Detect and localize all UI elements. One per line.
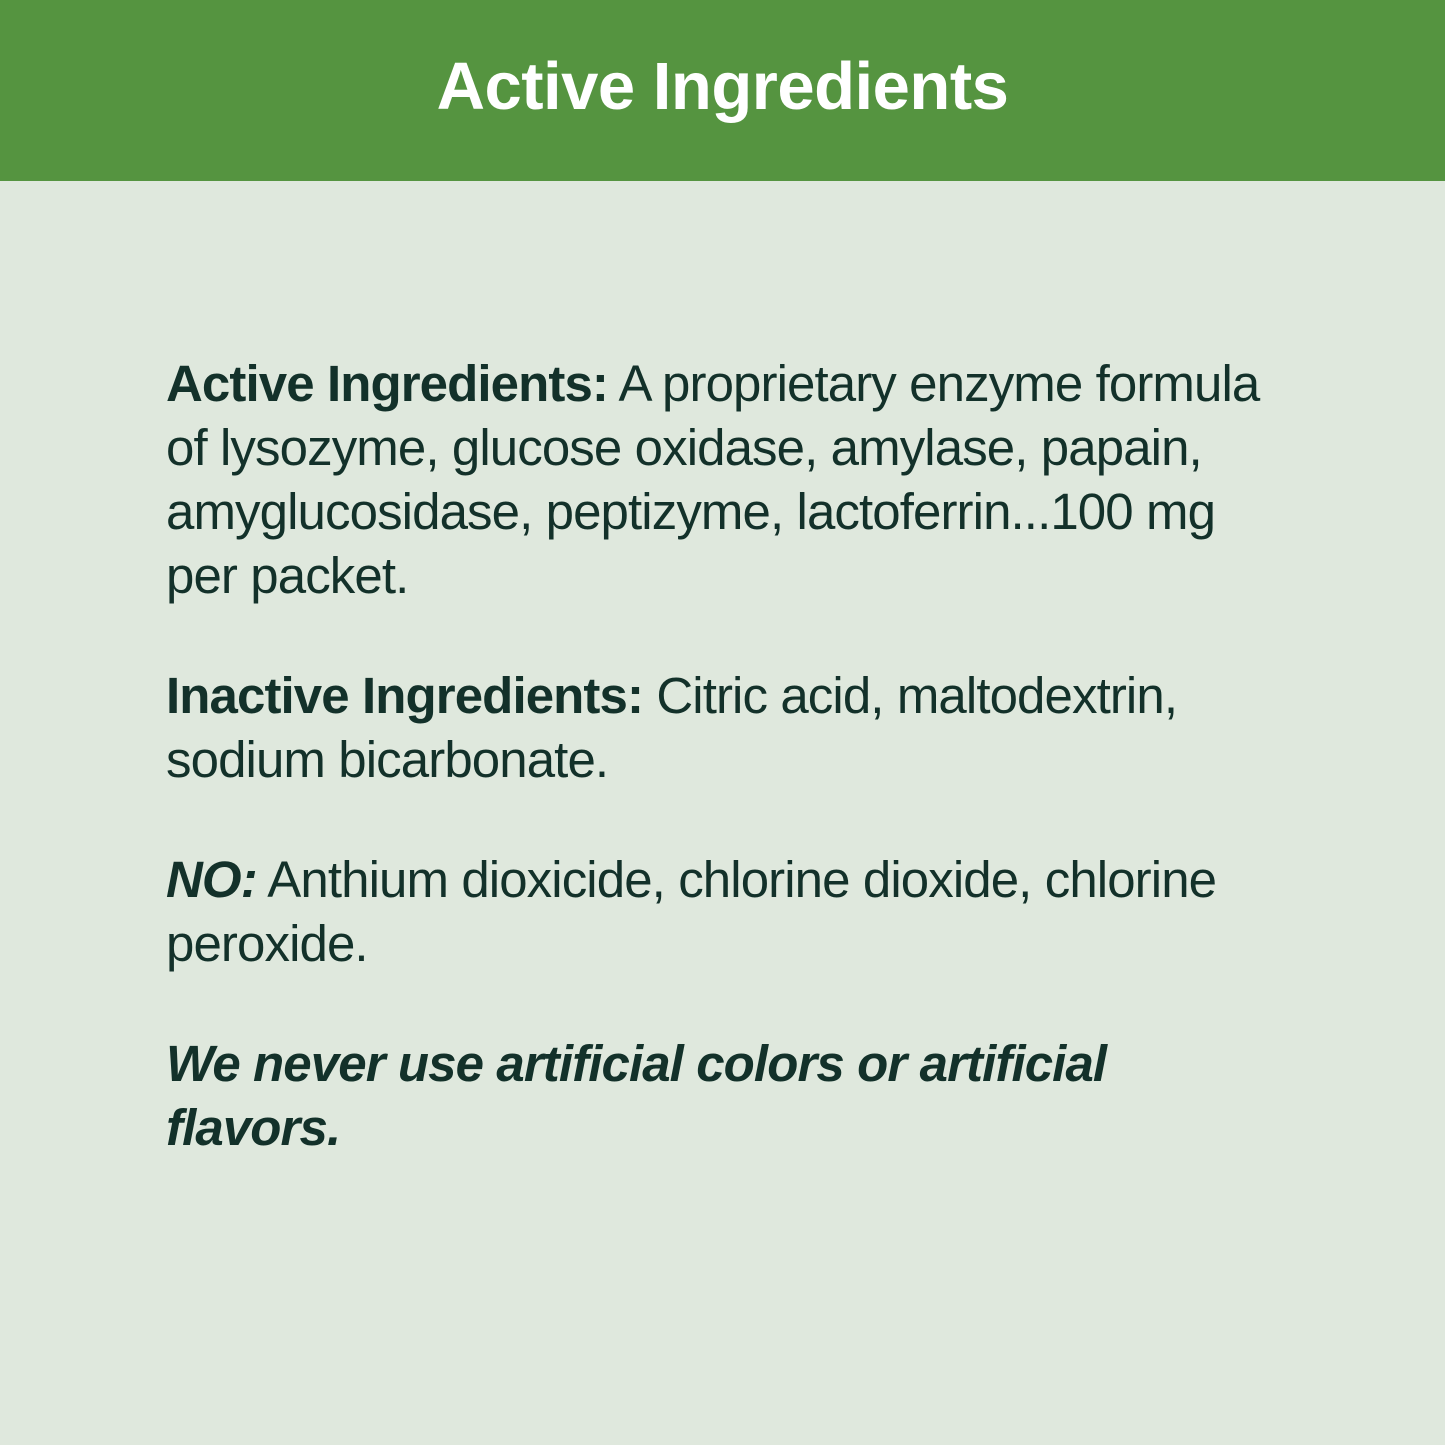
page-title: Active Ingredients — [437, 53, 1009, 120]
no-artificial-statement-text: We never use artificial colors or artifi… — [166, 1035, 1106, 1156]
active-ingredients-label: Active Ingredients: — [166, 355, 608, 412]
no-list-text: Anthium dioxicide, chlorine dioxide, chl… — [166, 851, 1216, 972]
header-band: Active Ingredients — [0, 0, 1445, 181]
paragraph-active-ingredients: Active Ingredients: A proprietary enzyme… — [166, 352, 1291, 608]
inactive-ingredients-label: Inactive Ingredients: — [166, 667, 643, 724]
ingredients-content: Active Ingredients: A proprietary enzyme… — [166, 352, 1291, 1160]
ingredients-panel: Active Ingredients Active Ingredients: A… — [0, 0, 1445, 1445]
paragraph-no-list: NO: Anthium dioxicide, chlorine dioxide,… — [166, 848, 1291, 976]
paragraph-no-artificial-statement: We never use artificial colors or artifi… — [166, 1032, 1291, 1160]
no-label: NO: — [166, 851, 257, 908]
paragraph-inactive-ingredients: Inactive Ingredients: Citric acid, malto… — [166, 664, 1291, 792]
